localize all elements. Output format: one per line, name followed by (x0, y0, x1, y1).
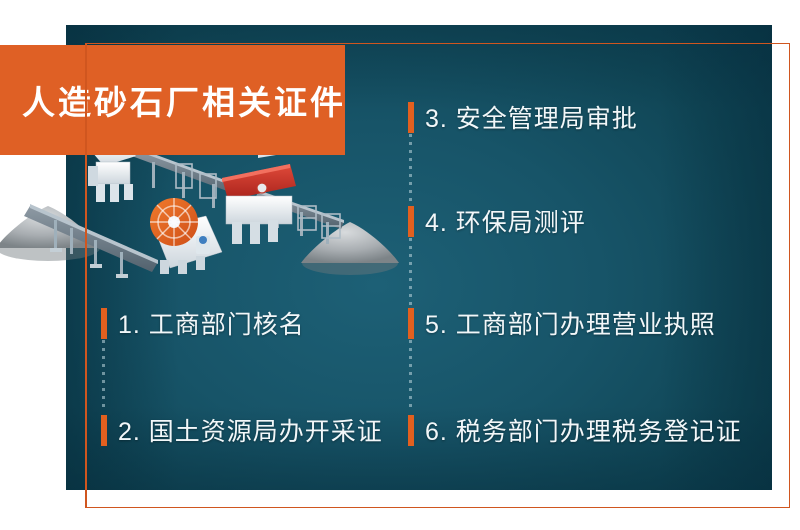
list-item-2-label: 2. 国土资源局办开采证 (118, 412, 383, 448)
bullet-marker-icon (408, 415, 414, 446)
sand-washing-wheel (150, 198, 222, 274)
dotted-connector-left (102, 340, 105, 412)
decorative-frame-left-line (85, 43, 87, 508)
list-item-6[interactable]: 6. 税务部门办理税务登记证 (408, 412, 742, 448)
dotted-connector-right-1 (409, 134, 412, 202)
list-item-3-label: 3. 安全管理局审批 (425, 99, 638, 135)
list-item-1-label: 1. 工商部门核名 (118, 305, 305, 341)
dotted-connector-right-2 (409, 238, 412, 306)
bullet-marker-icon (408, 308, 414, 339)
bullet-marker-icon (408, 102, 414, 133)
vibrating-screen (222, 164, 296, 244)
bullet-marker-icon (101, 415, 107, 446)
list-item-5[interactable]: 5. 工商部门办理营业执照 (408, 305, 716, 341)
list-item-4-label: 4. 环保局测评 (425, 203, 586, 239)
title-banner: 人造砂石厂相关证件 (0, 45, 345, 155)
bullet-marker-icon (408, 206, 414, 237)
list-item-4[interactable]: 4. 环保局测评 (408, 203, 586, 239)
bullet-marker-icon (101, 308, 107, 339)
poster-root: 人造砂石厂相关证件 1. 工商部门核名 2. 国土资源局办开采证 3. 安全管理… (0, 0, 800, 530)
list-item-5-label: 5. 工商部门办理营业执照 (425, 305, 716, 341)
page-title: 人造砂石厂相关证件 (22, 76, 346, 124)
dotted-connector-right-3 (409, 340, 412, 412)
list-item-1[interactable]: 1. 工商部门核名 (101, 305, 305, 341)
list-item-2[interactable]: 2. 国土资源局办开采证 (101, 412, 383, 448)
list-item-3[interactable]: 3. 安全管理局审批 (408, 99, 638, 135)
list-item-6-label: 6. 税务部门办理税务登记证 (425, 412, 742, 448)
